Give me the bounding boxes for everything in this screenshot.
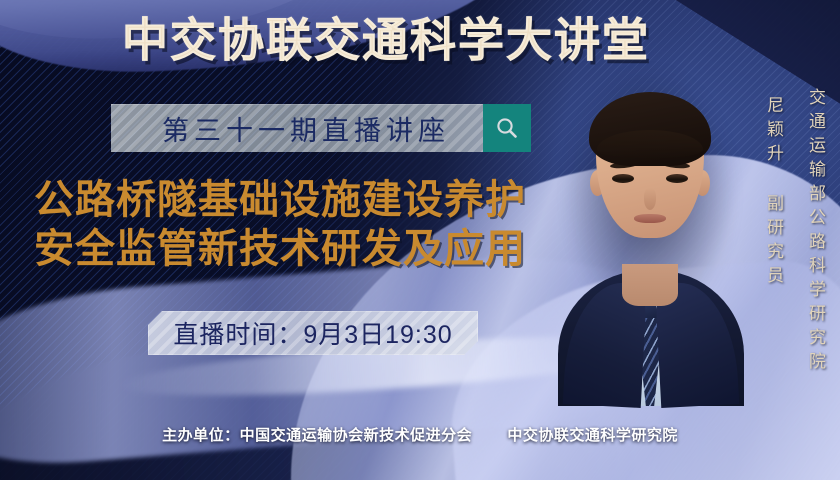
episode-banner: 第三十一期直播讲座 [111,104,531,152]
poster-headline: 中交协联交通科学大讲堂 [122,17,650,63]
lecture-topic-line-1: 公路桥隧基础设施建设养护 [34,178,526,222]
portrait-mouth [634,214,666,223]
portrait-eye-right [666,174,688,183]
schedule-label: 直播时间：9月3日19:30 [173,315,452,351]
lecture-topic-line-2: 安全监管新技术研发及应用 [34,225,526,274]
search-icon[interactable] [483,104,531,152]
episode-label: 第三十一期直播讲座 [111,104,483,152]
live-lecture-poster: 中交协联交通科学大讲堂 第三十一期直播讲座 公路桥隧基础设施建设养护 安全监管新… [0,0,840,480]
portrait-nose [644,188,656,210]
schedule-banner: 直播时间：9月3日19:30 [148,311,478,355]
speaker-name-title: 尼颖升 副研究员 [761,96,786,290]
portrait-neck [622,264,678,306]
speaker-organization: 交通运输部公路科学研究院 [803,88,828,376]
lecture-topic: 公路桥隧基础设施建设养护 安全监管新技术研发及应用 [34,176,526,274]
portrait-eye-left [612,174,634,183]
organizer-suffix: 中交协联交通科学研究院 [507,427,678,444]
organizer-footer: 主办单位：中国交通运输协会新技术促进分会 中交协联交通科学研究院 [0,424,840,445]
organizer-prefix: 主办单位：中国交通运输协会新技术促进分会 [162,427,472,444]
speaker-portrait [564,58,736,406]
